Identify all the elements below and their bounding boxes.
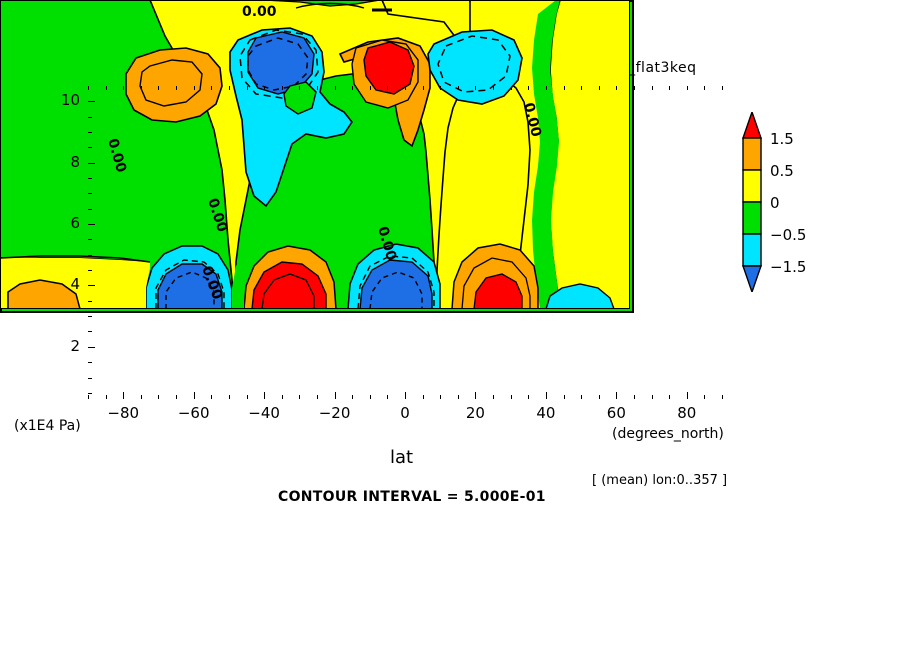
y-minor-tick (88, 224, 92, 225)
x-minor-tick (546, 86, 547, 90)
x-tick-label: −60 (166, 404, 222, 422)
x-minor-tick (704, 395, 705, 399)
x-minor-tick (564, 86, 565, 90)
colorbar-tick-label: 1.5 (770, 130, 794, 148)
x-minor-tick (211, 86, 212, 90)
x-minor-tick (528, 86, 529, 90)
x-minor-tick (194, 395, 195, 399)
y-minor-tick (88, 178, 92, 179)
y-minor-tick (88, 255, 92, 256)
colorbar-tick-label: 0.5 (770, 162, 794, 180)
x-minor-tick (141, 86, 142, 90)
y-minor-tick (88, 209, 92, 210)
x-minor-tick (264, 395, 265, 399)
x-minor-tick (423, 395, 424, 399)
x-minor-tick (423, 86, 424, 90)
x-minor-tick (704, 86, 705, 90)
colorbar-tick-label: 0 (770, 194, 780, 212)
x-minor-tick (247, 395, 248, 399)
y-minor-tick (88, 316, 92, 317)
x-minor-tick (176, 86, 177, 90)
colorbar-tick-label: −1.5 (770, 258, 806, 276)
y-minor-tick (88, 393, 92, 394)
x-minor-tick (123, 395, 124, 399)
x-minor-tick (546, 395, 547, 399)
y-minor-tick (88, 163, 92, 164)
x-tick-label: 60 (588, 404, 644, 422)
contour-field: 0.00 0.00 0.00 0.00 0.00 0.00 (0, 0, 630, 309)
x-tick-label: 20 (447, 404, 503, 422)
x-minor-tick (335, 395, 336, 399)
y-minor-tick (88, 362, 92, 363)
y-tick-label: 8 (44, 153, 80, 171)
x-minor-tick (317, 86, 318, 90)
y-minor-tick (88, 378, 92, 379)
colorbar-tick-label: −0.5 (770, 226, 806, 244)
x-minor-tick (652, 86, 653, 90)
x-minor-tick (282, 86, 283, 90)
x-minor-tick (211, 395, 212, 399)
x-minor-tick (511, 86, 512, 90)
x-minor-tick (88, 86, 89, 90)
x-minor-tick (634, 395, 635, 399)
x-minor-tick (634, 86, 635, 90)
x-minor-tick (123, 86, 124, 90)
x-tick-label: −40 (236, 404, 292, 422)
x-minor-tick (352, 86, 353, 90)
x-minor-tick (599, 395, 600, 399)
x-minor-tick (616, 86, 617, 90)
x-minor-tick (299, 86, 300, 90)
y-minor-tick (88, 301, 92, 302)
x-minor-tick (528, 395, 529, 399)
x-minor-tick (370, 86, 371, 90)
x-minor-tick (564, 395, 565, 399)
y-minor-tick (88, 132, 92, 133)
x-minor-tick (282, 395, 283, 399)
x-minor-tick (581, 86, 582, 90)
x-minor-tick (335, 86, 336, 90)
x-minor-tick (370, 395, 371, 399)
x-minor-tick (106, 395, 107, 399)
x-minor-tick (687, 395, 688, 399)
y-minor-tick (88, 331, 92, 332)
x-minor-tick (475, 86, 476, 90)
x-minor-tick (440, 395, 441, 399)
x-minor-tick (141, 395, 142, 399)
x-tick-label: −20 (307, 404, 363, 422)
x-minor-tick (440, 86, 441, 90)
y-minor-tick (88, 193, 92, 194)
x-minor-tick (387, 86, 388, 90)
y-minor-tick (88, 347, 92, 348)
x-minor-tick (652, 395, 653, 399)
y-tick-label: 4 (44, 275, 80, 293)
y-minor-tick (88, 101, 92, 102)
y-tick-label: 10 (44, 91, 80, 109)
x-tick-label: 80 (659, 404, 715, 422)
y-minor-tick (88, 285, 92, 286)
x-minor-tick (599, 86, 600, 90)
y-tick-label: 6 (44, 214, 80, 232)
x-tick-label: −80 (95, 404, 151, 422)
x-minor-tick (405, 395, 406, 399)
x-minor-tick (458, 86, 459, 90)
y-minor-tick (88, 239, 92, 240)
x-minor-tick (158, 395, 159, 399)
contour-interval-note: CONTOUR INTERVAL = 5.000E-01 (278, 489, 546, 505)
x-minor-tick (722, 86, 723, 90)
x-minor-tick (106, 86, 107, 90)
x-tick-label: 40 (518, 404, 574, 422)
y-minor-tick (88, 117, 92, 118)
y-tick-label: 2 (44, 337, 80, 355)
y-minor-tick (88, 147, 92, 148)
x-minor-tick (493, 395, 494, 399)
x-minor-tick (264, 86, 265, 90)
x-minor-tick (88, 395, 89, 399)
x-minor-tick (493, 86, 494, 90)
x-minor-tick (405, 86, 406, 90)
x-axis-unit: (degrees_north) (612, 426, 724, 442)
x-axis-title: lat (390, 447, 413, 468)
contour-label-0: 0.00 (242, 4, 277, 20)
y-axis-unit: (x1E4 Pa) (14, 418, 81, 434)
x-minor-tick (194, 86, 195, 90)
x-minor-tick (352, 395, 353, 399)
x-minor-tick (176, 395, 177, 399)
x-minor-tick (475, 395, 476, 399)
x-minor-tick (317, 395, 318, 399)
x-minor-tick (299, 395, 300, 399)
x-minor-tick (616, 395, 617, 399)
x-minor-tick (247, 86, 248, 90)
x-minor-tick (581, 395, 582, 399)
x-minor-tick (669, 395, 670, 399)
x-minor-tick (229, 395, 230, 399)
x-tick-label: 0 (377, 404, 433, 422)
y-minor-tick (88, 270, 92, 271)
x-minor-tick (722, 395, 723, 399)
x-minor-tick (387, 395, 388, 399)
x-minor-tick (511, 395, 512, 399)
mean-note: [ (mean) lon:0..357 ] (592, 473, 727, 488)
x-minor-tick (669, 86, 670, 90)
colorbar[interactable] (740, 112, 764, 292)
x-minor-tick (687, 86, 688, 90)
contour-plot-area[interactable]: 0.00 0.00 0.00 0.00 0.00 0.00 (0, 0, 634, 313)
x-minor-tick (158, 86, 159, 90)
x-minor-tick (229, 86, 230, 90)
x-minor-tick (458, 395, 459, 399)
